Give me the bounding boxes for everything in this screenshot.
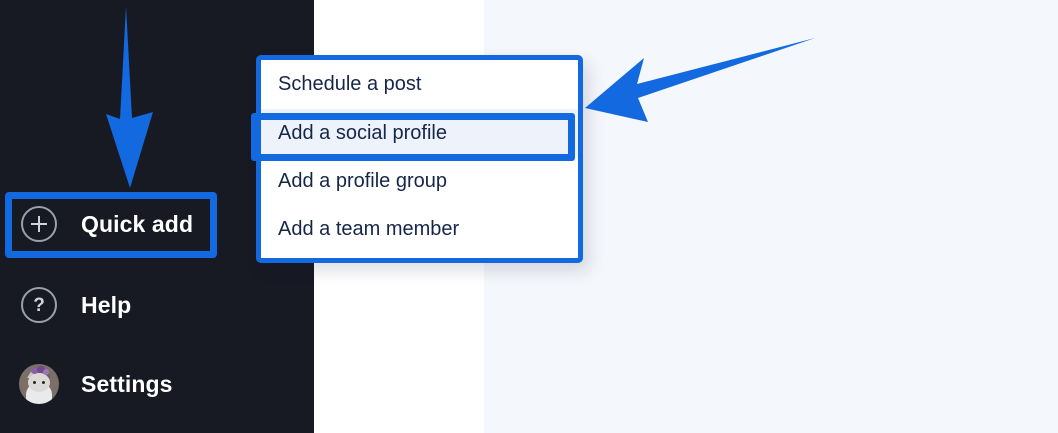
menu-item-add-a-profile-group[interactable]: Add a profile group [261, 157, 578, 205]
question-circle-icon: ? [17, 283, 61, 327]
user-avatar-icon [17, 362, 61, 406]
sidebar-item-label: Help [81, 292, 131, 319]
quick-add-dropdown-menu: Schedule a post Add a social profile Add… [256, 55, 583, 263]
screenshot-stage: Quick add ? Help Settings [0, 0, 1058, 433]
menu-item-label: Schedule a post [278, 73, 421, 96]
menu-item-add-a-team-member[interactable]: Add a team member [261, 205, 578, 253]
sidebar-item-label: Settings [81, 371, 173, 398]
sidebar-item-label: Quick add [81, 211, 193, 238]
avatar [19, 364, 59, 404]
plus-circle-icon [17, 202, 61, 246]
sidebar-item-settings[interactable]: Settings [0, 352, 314, 416]
menu-item-add-a-social-profile[interactable]: Add a social profile [261, 109, 578, 157]
menu-item-schedule-a-post[interactable]: Schedule a post [261, 60, 578, 108]
menu-item-label: Add a profile group [278, 170, 447, 193]
menu-item-label: Add a team member [278, 218, 459, 241]
menu-item-label: Add a social profile [278, 122, 447, 145]
sidebar-item-help[interactable]: ? Help [0, 273, 314, 337]
